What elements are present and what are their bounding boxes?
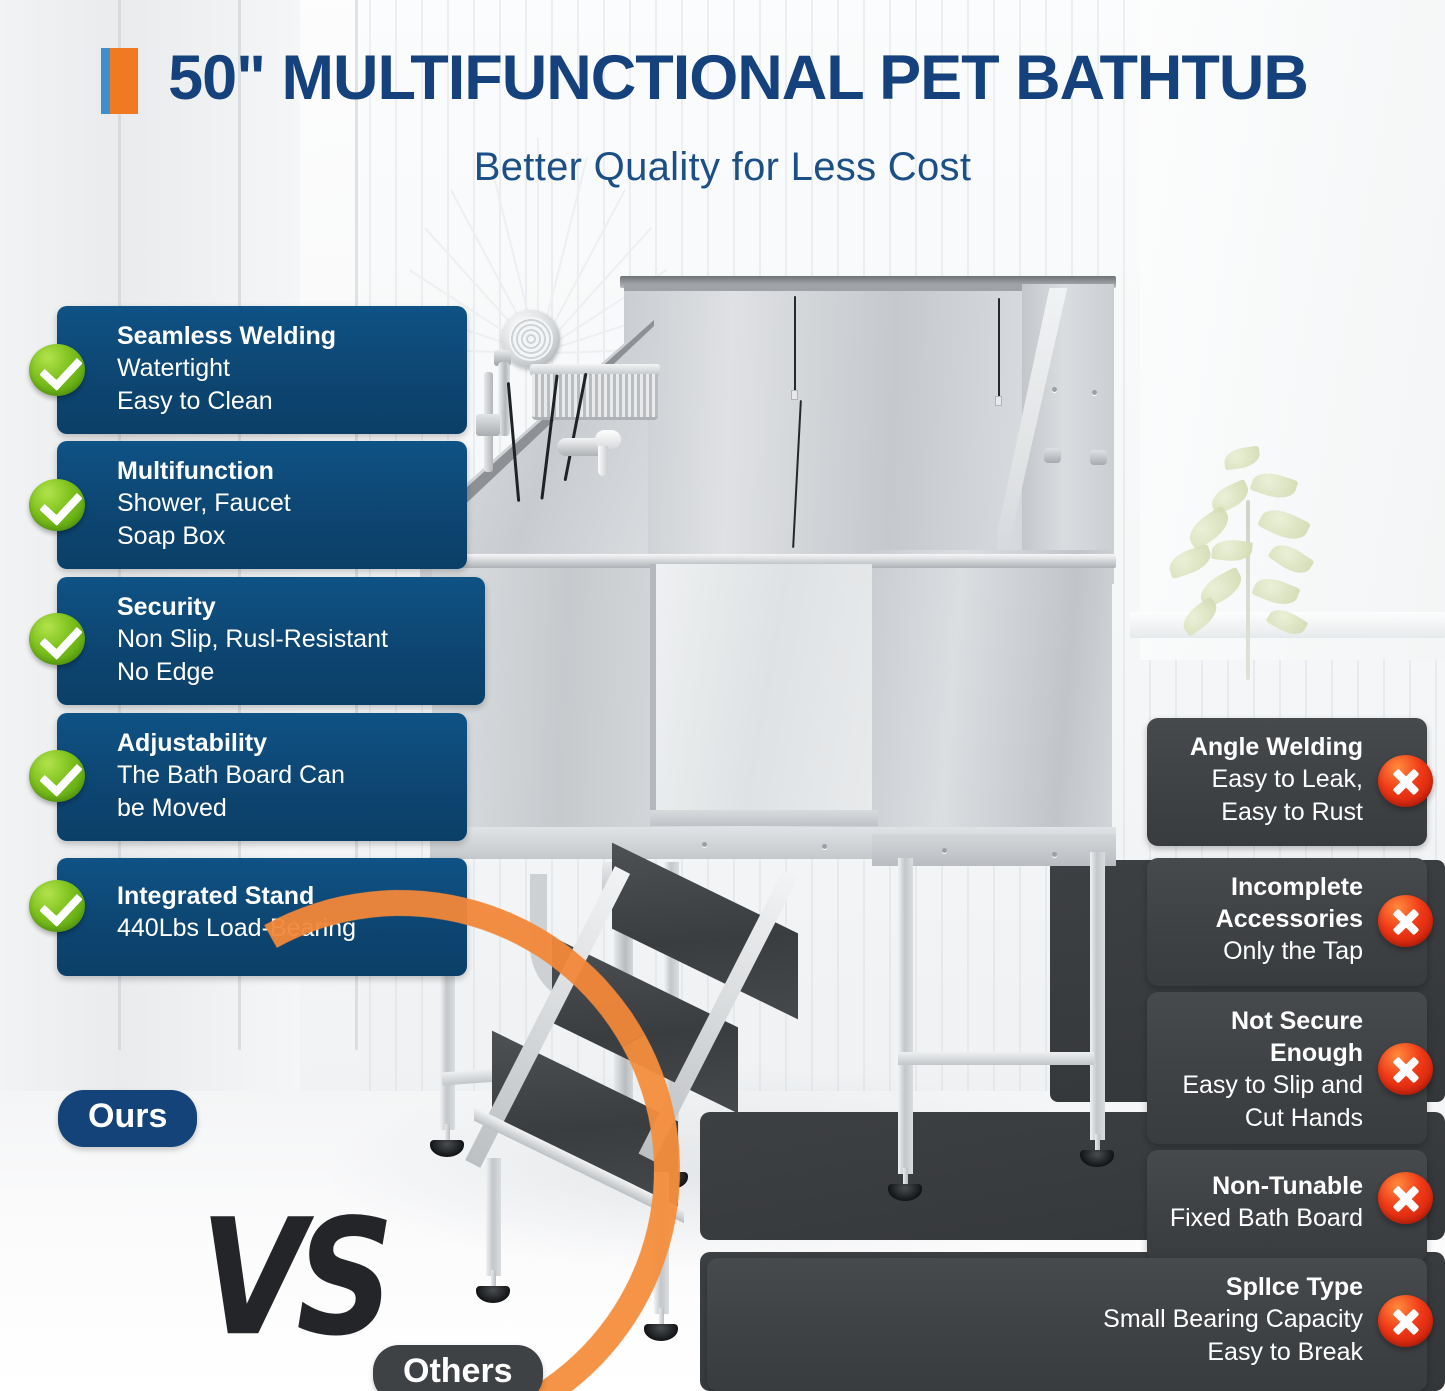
con-title: SplIce Type xyxy=(725,1271,1363,1303)
hanging-cable xyxy=(998,298,1000,398)
con-title: Incomplete xyxy=(1165,871,1363,903)
pro-line: No Edge xyxy=(117,656,467,689)
rivet xyxy=(1092,390,1097,395)
hanging-cable xyxy=(794,296,796,392)
cross-circle-icon xyxy=(1378,755,1433,807)
check-circle-icon xyxy=(29,613,85,665)
check-circle-icon xyxy=(29,344,85,396)
rivet xyxy=(1052,852,1057,857)
check-circle-icon xyxy=(29,880,85,932)
con-line: Easy to Rust xyxy=(1165,796,1363,829)
pro-title: Multifunction xyxy=(117,455,449,487)
pro-line: Non Slip, Rusl-Resistant xyxy=(117,623,467,656)
pro-line: be Moved xyxy=(117,792,449,825)
pro-line: Watertight xyxy=(117,352,449,385)
page-subtitle: Better Quality for Less Cost xyxy=(0,145,1445,190)
con-title: Non-Tunable xyxy=(1165,1170,1363,1202)
ours-badge: Ours xyxy=(58,1090,197,1147)
pro-line: Shower, Faucet xyxy=(117,487,449,520)
page-title: 50" MULTIFUNCTIONAL PET BATHTUB xyxy=(118,44,1358,112)
versus-block: Ours VS Others xyxy=(0,1050,700,1391)
con-line: Easy to Leak, xyxy=(1165,763,1363,796)
con-title: Angle Welding xyxy=(1165,731,1363,763)
cable-clip xyxy=(995,396,1002,406)
pro-card-security[interactable]: Security Non Slip, Rusl-Resistant No Edg… xyxy=(57,577,485,705)
con-title: Not Secure xyxy=(1165,1005,1363,1037)
wall-hook xyxy=(1044,448,1061,463)
rivet xyxy=(822,844,827,849)
tub-diagonal-brace xyxy=(998,288,1128,572)
tub-right-side xyxy=(870,550,1112,850)
pro-title: Seamless Welding xyxy=(117,320,449,352)
cable-clip xyxy=(791,390,798,400)
rivet xyxy=(1052,387,1057,392)
con-line: Easy to Break xyxy=(725,1336,1363,1369)
pro-title: Security xyxy=(117,591,467,623)
others-badge: Others xyxy=(373,1345,543,1391)
con-title: Accessories xyxy=(1165,903,1363,935)
check-circle-icon xyxy=(29,479,85,531)
shower-bracket xyxy=(476,414,500,436)
rivet xyxy=(942,848,947,853)
accent-bar-blue xyxy=(101,48,110,114)
check-circle-icon xyxy=(29,750,85,802)
versus-label: VS xyxy=(200,1186,385,1372)
wall-hook xyxy=(1090,450,1107,465)
con-card-splice-type[interactable]: SplIce Type Small Bearing Capacity Easy … xyxy=(707,1258,1427,1391)
pro-line: Easy to Clean xyxy=(117,385,449,418)
con-line: Cut Hands xyxy=(1165,1102,1363,1135)
bath-board-lip xyxy=(650,810,878,826)
pro-title: Adjustability xyxy=(117,727,449,759)
pro-card-multifunction[interactable]: Multifunction Shower, Faucet Soap Box xyxy=(57,441,467,569)
cross-circle-icon xyxy=(1378,1172,1433,1224)
con-title: Enough xyxy=(1165,1037,1363,1069)
con-line: Only the Tap xyxy=(1165,935,1363,968)
con-line: Fixed Bath Board xyxy=(1165,1202,1363,1235)
cross-circle-icon xyxy=(1378,1043,1433,1095)
rivet xyxy=(702,842,707,847)
bath-board xyxy=(650,564,872,824)
con-line: Easy to Slip and xyxy=(1165,1069,1363,1102)
potted-plant xyxy=(1150,390,1360,680)
infographic-stage: 50" MULTIFUNCTIONAL PET BATHTUB Better Q… xyxy=(0,0,1445,1391)
cross-circle-icon xyxy=(1378,895,1433,947)
faucet-lever-stem xyxy=(598,446,608,476)
pro-line: Soap Box xyxy=(117,520,449,553)
pro-card-seamless-welding[interactable]: Seamless Welding Watertight Easy to Clea… xyxy=(57,306,467,434)
stand-brace xyxy=(898,1052,1094,1065)
cross-circle-icon xyxy=(1378,1295,1433,1347)
con-line: Small Bearing Capacity xyxy=(725,1303,1363,1336)
pro-card-adjustability[interactable]: Adjustability The Bath Board Can be Move… xyxy=(57,713,467,841)
header: 50" MULTIFUNCTIONAL PET BATHTUB Better Q… xyxy=(0,0,1445,210)
pro-line: The Bath Board Can xyxy=(117,759,449,792)
leveling-foot xyxy=(1080,1150,1114,1167)
stand-leg xyxy=(1090,852,1105,1140)
